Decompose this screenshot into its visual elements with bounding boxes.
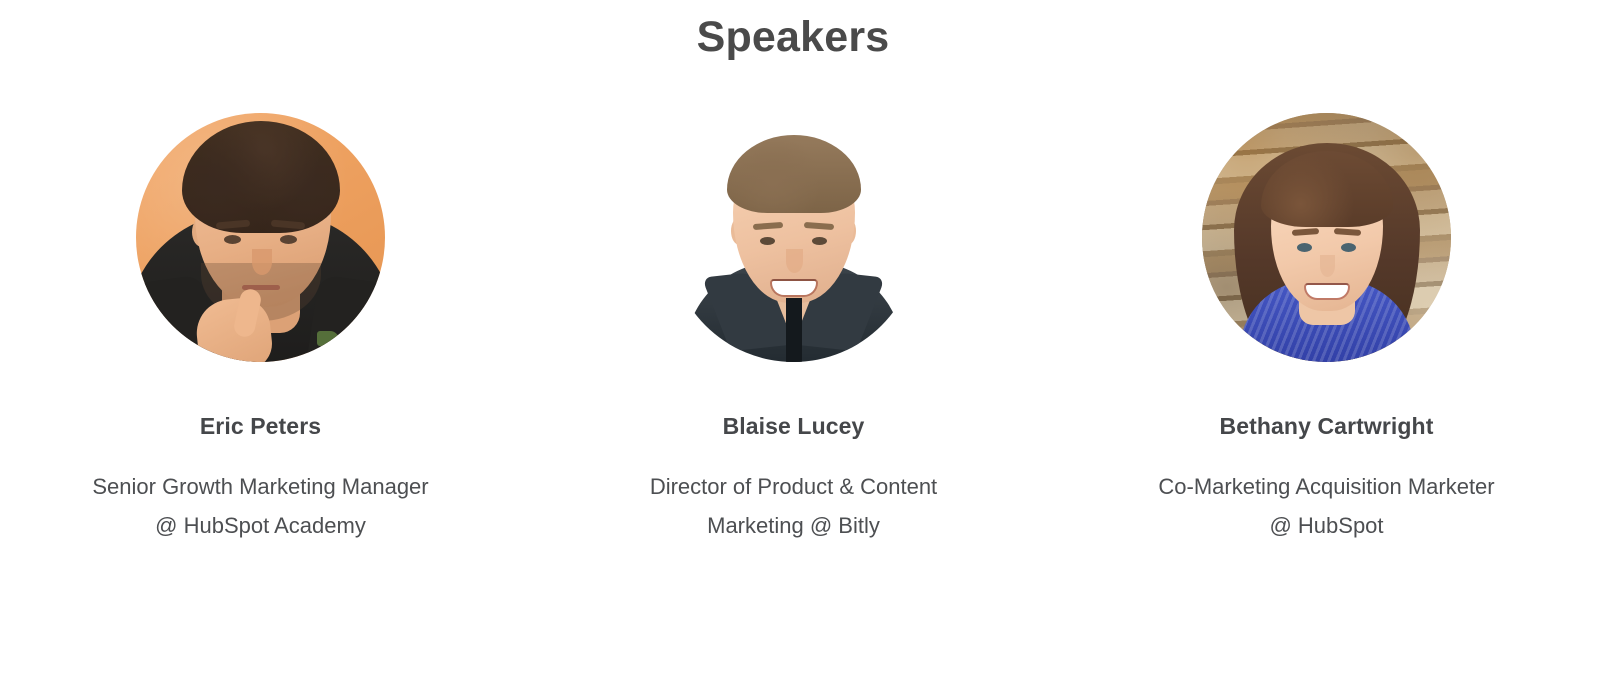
speaker-role-line-2: Marketing @ Bitly	[707, 513, 880, 538]
nose-shape	[1320, 255, 1335, 277]
speaker-role-line-1: Senior Growth Marketing Manager	[92, 474, 428, 499]
speakers-list: Eric Peters Senior Growth Marketing Mana…	[0, 113, 1600, 545]
speaker-role-line-1: Co-Marketing Acquisition Marketer	[1158, 474, 1494, 499]
avatar	[136, 113, 385, 362]
hair-shape	[182, 121, 340, 233]
eye-left-shape	[224, 235, 241, 244]
eye-left-shape	[760, 237, 775, 245]
speaker-role-line-1: Director of Product & Content	[650, 474, 937, 499]
shirt-placket-shape	[786, 298, 802, 362]
avatar	[669, 113, 918, 362]
eye-right-shape	[812, 237, 827, 245]
speaker-name: Blaise Lucey	[723, 362, 865, 441]
speaker-role: Director of Product & Content Marketing …	[650, 441, 937, 545]
speaker-role-line-2: @ HubSpot Academy	[155, 513, 366, 538]
speakers-section: Speakers	[0, 0, 1600, 680]
speaker-name: Bethany Cartwright	[1220, 362, 1434, 441]
nose-shape	[786, 249, 803, 273]
speaker-name: Eric Peters	[200, 362, 321, 441]
avatar	[1202, 113, 1451, 362]
eye-right-shape	[1341, 243, 1356, 252]
speaker-card: Eric Peters Senior Growth Marketing Mana…	[0, 113, 527, 545]
eye-right-shape	[280, 235, 297, 244]
speaker-role: Co-Marketing Acquisition Marketer @ HubS…	[1158, 441, 1494, 545]
speaker-card: Bethany Cartwright Co-Marketing Acquisit…	[1060, 113, 1593, 545]
eye-left-shape	[1297, 243, 1312, 252]
page-title: Speakers	[0, 0, 1593, 64]
shirt-logo-icon	[317, 331, 339, 346]
mouth-shape	[770, 279, 818, 297]
speaker-photo-eric-peters	[136, 113, 385, 362]
speaker-card: Blaise Lucey Director of Product & Conte…	[527, 113, 1060, 545]
mouth-shape	[1304, 283, 1350, 300]
speaker-role-line-2: @ HubSpot	[1269, 513, 1383, 538]
speaker-photo-bethany-cartwright	[1202, 113, 1451, 362]
hair-shape	[727, 135, 861, 213]
speaker-photo-blaise-lucey	[669, 113, 918, 362]
nose-shape	[252, 249, 272, 275]
speaker-role: Senior Growth Marketing Manager @ HubSpo…	[92, 441, 428, 545]
